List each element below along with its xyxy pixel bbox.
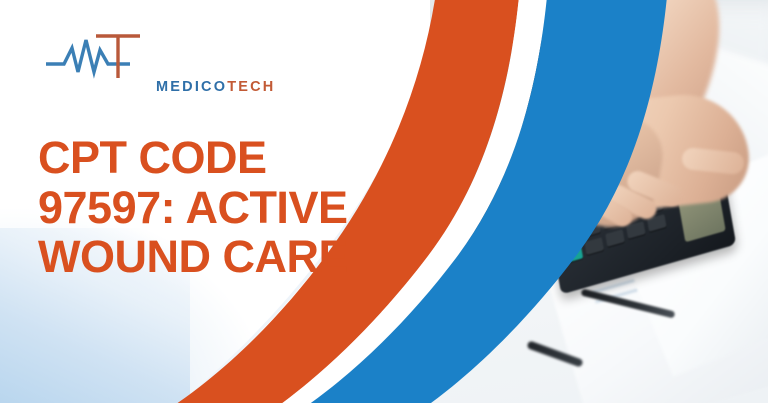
hero-photo [430, 0, 768, 403]
blog-featured-banner: MEDICOTECH CPT CODE 97597: ACTIVE WOUND … [0, 0, 768, 403]
page-title-line-1: CPT CODE [38, 133, 438, 183]
brand-wordmark-tech: TECH [227, 79, 275, 95]
brand-wordmark-medico: MEDICO [156, 79, 227, 95]
brand-wordmark: MEDICOTECH [156, 80, 275, 95]
page-title: CPT CODE 97597: ACTIVE WOUND CARE [38, 133, 438, 282]
mt-ekg-monogram-icon [44, 28, 152, 80]
brand-logo[interactable]: MEDICOTECH [44, 28, 244, 84]
page-title-line-2: 97597: ACTIVE [38, 183, 438, 233]
page-title-line-3: WOUND CARE [38, 232, 438, 282]
